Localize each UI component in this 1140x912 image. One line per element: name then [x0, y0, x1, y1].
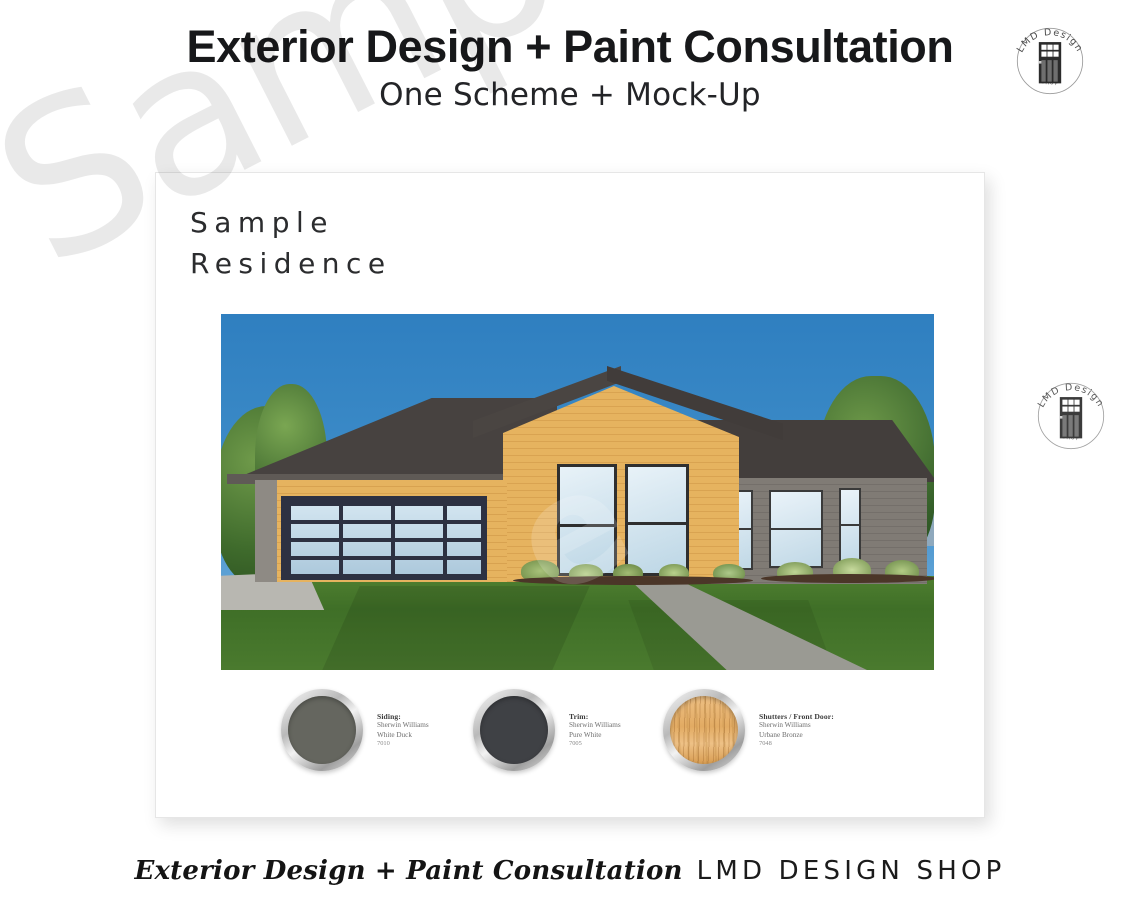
project-title: Sample Residence — [190, 203, 392, 284]
window-right-3 — [769, 490, 823, 568]
brand-logo-card: LMD Design Shop — [1028, 373, 1114, 459]
swatch-color-name: White Duck — [377, 731, 429, 740]
design-board-card: Sample Residence LMD Design Shop — [155, 172, 985, 818]
garage-corner-trim — [255, 480, 277, 582]
mulch-bed-right — [761, 574, 934, 583]
page-title: Exterior Design + Paint Consultation — [0, 22, 1140, 72]
footer-brand-name: LMD DESIGN SHOP — [697, 856, 1006, 886]
garage-door-glass-panels — [287, 502, 481, 574]
door-icon — [1039, 42, 1061, 83]
swatch-label-shutters: Shutters / Front Door: Sherwin Williams … — [759, 712, 834, 749]
swatch-color-fill-siding — [288, 696, 356, 764]
swatch-role: Shutters / Front Door: — [759, 712, 834, 722]
swatch-brand: Sherwin Williams — [759, 721, 834, 730]
swatch-role: Trim: — [569, 712, 621, 722]
swatch-brand: Sherwin Williams — [569, 721, 621, 730]
swatch-code: 7005 — [569, 740, 621, 748]
lawn-shadow-left — [322, 586, 589, 670]
paint-swatch-row: Siding: Sherwin Williams White Duck 7010… — [156, 679, 986, 789]
swatch-siding[interactable]: Siding: Sherwin Williams White Duck 7010 — [281, 689, 429, 771]
window-right-4 — [839, 488, 861, 566]
paint-can-lid-siding — [281, 689, 363, 771]
swatch-shutters-front-door[interactable]: Shutters / Front Door: Sherwin Williams … — [663, 689, 834, 771]
page-header: Exterior Design + Paint Consultation One… — [0, 22, 1140, 114]
paint-can-lid-shutters — [663, 689, 745, 771]
brand-logo-header: LMD Design Shop — [1007, 18, 1093, 104]
swatch-color-fill-shutters — [670, 696, 738, 764]
swatch-trim[interactable]: Trim: Sherwin Williams Pure White 7005 — [473, 689, 621, 771]
swatch-label-trim: Trim: Sherwin Williams Pure White 7005 — [569, 712, 621, 749]
lmd-design-shop-logo-mark: LMD Design Shop — [1007, 18, 1093, 104]
house-exterior-rendering: e — [221, 314, 934, 670]
swatch-brand: Sherwin Williams — [377, 721, 429, 730]
swatch-role: Siding: — [377, 712, 429, 722]
door-icon-small — [1060, 397, 1082, 438]
lmd-design-shop-logo-mark-small: LMD Design Shop — [1028, 373, 1114, 459]
listing-preview-page: Exterior Design + Paint Consultation One… — [0, 0, 1140, 912]
page-footer: Exterior Design + Paint Consultation LMD… — [0, 856, 1140, 886]
window-front-left — [557, 464, 617, 576]
swatch-color-fill-trim — [480, 696, 548, 764]
mulch-bed-left — [513, 576, 753, 585]
swatch-color-name: Pure White — [569, 731, 621, 740]
swatch-code: 7048 — [759, 740, 834, 748]
swatch-color-name: Urbane Bronze — [759, 731, 834, 740]
footer-service-name: Exterior Design + Paint Consultation — [134, 856, 682, 886]
page-subtitle: One Scheme + Mock-Up — [0, 78, 1140, 114]
window-front-right — [625, 464, 689, 576]
swatch-code: 7010 — [377, 740, 429, 748]
paint-can-lid-trim — [473, 689, 555, 771]
swatch-label-siding: Siding: Sherwin Williams White Duck 7010 — [377, 712, 429, 749]
